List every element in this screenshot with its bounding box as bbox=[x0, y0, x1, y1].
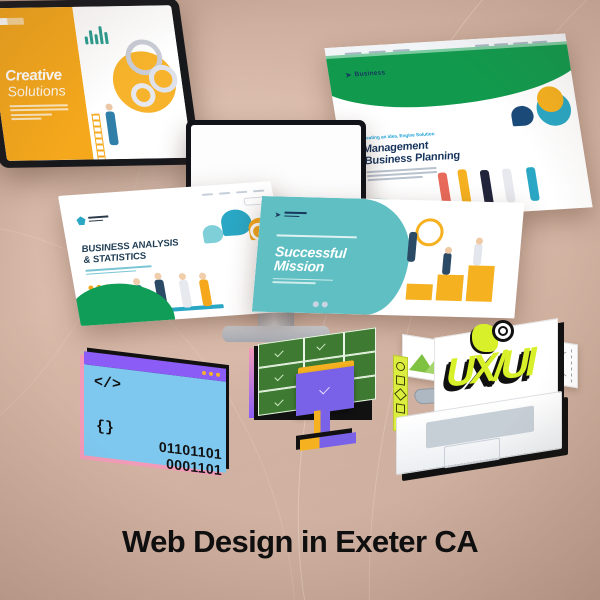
vignette-overlay bbox=[0, 0, 600, 600]
page-title: Web Design in Exeter CA bbox=[0, 524, 600, 560]
poster-canvas: ➤ Business Creating an idea, Engine Solu… bbox=[0, 0, 600, 600]
